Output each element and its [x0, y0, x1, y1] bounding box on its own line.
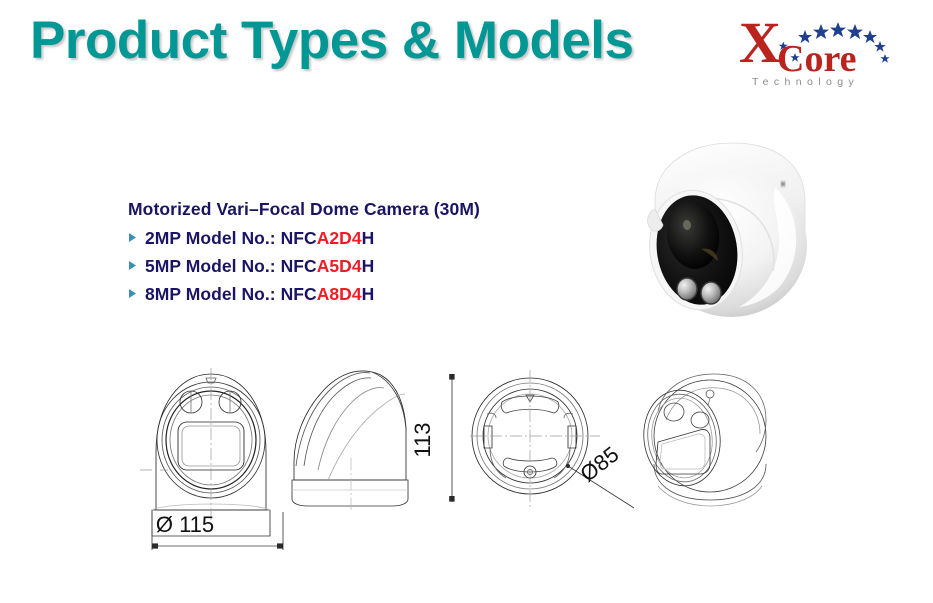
camera-product-photo: [625, 137, 840, 332]
side-base: [292, 480, 408, 506]
iso-lens-window: [656, 429, 710, 474]
slide-canvas: Product Types & Models X Core Technology: [0, 0, 933, 603]
camera-ir-led-right: [701, 282, 721, 304]
base-dimension-label: Ø85: [575, 441, 623, 486]
iso-face-bezel-outer: [638, 385, 727, 491]
iso-ir-led-right: [690, 411, 710, 429]
model-line: 2MP Model No.: NFCA2D4H: [145, 228, 374, 249]
xcore-logo: X Core Technology: [735, 8, 905, 88]
base-leader-dot: [566, 464, 570, 468]
front-dimension-label: Ø 115: [156, 512, 214, 537]
page-title: Product Types & Models: [30, 11, 634, 70]
side-bezel-edge-2: [304, 378, 371, 466]
model-prefix: 8MP Model No.: NFC: [145, 284, 317, 304]
triangle-right-icon: [128, 232, 145, 243]
model-line: 5MP Model No.: NFCA5D4H: [145, 256, 374, 277]
logo-tagline: Technology: [752, 76, 859, 88]
iso-base-bottom: [658, 486, 762, 506]
side-dimension-label: 113: [410, 422, 435, 457]
drawing-isometric-view: [628, 368, 793, 513]
model-suffix: H: [362, 256, 375, 276]
drawing-base-view: Ø85: [468, 362, 643, 522]
logo-letter-x: X: [739, 10, 781, 75]
side-bezel-edge-3: [318, 388, 384, 470]
camera-sensor-dot: [781, 182, 785, 186]
model-line: 8MP Model No.: NFCA8D4H: [145, 284, 374, 305]
model-code: A5D4: [317, 256, 362, 276]
side-seam: [328, 394, 405, 480]
triangle-right-icon: [128, 260, 145, 271]
model-code: A2D4: [317, 228, 362, 248]
model-suffix: H: [362, 228, 375, 248]
model-list-item: 8MP Model No.: NFCA8D4H: [128, 284, 598, 305]
model-suffix: H: [362, 284, 375, 304]
model-prefix: 5MP Model No.: NFC: [145, 256, 317, 276]
iso-sensor-dot: [706, 390, 714, 398]
model-list-item: 5MP Model No.: NFCA5D4H: [128, 256, 598, 277]
iso-sensor-stem: [708, 398, 710, 406]
iso-cap-seam: [666, 388, 760, 434]
camera-ir-led-left: [677, 278, 697, 300]
side-body-outline: [294, 371, 406, 480]
product-heading: Motorized Vari–Focal Dome Camera (30M): [128, 198, 598, 221]
model-code: A8D4: [317, 284, 362, 304]
side-bezel-edge-1: [296, 373, 370, 466]
logo-word-core: Core: [777, 38, 857, 80]
model-list-item: 2MP Model No.: NFCA2D4H: [128, 228, 598, 249]
model-prefix: 2MP Model No.: NFC: [145, 228, 317, 248]
triangle-right-icon: [128, 288, 145, 299]
drawing-side-view: 113: [288, 362, 463, 512]
product-spec-block: Motorized Vari–Focal Dome Camera (30M) 2…: [128, 198, 598, 305]
base-centerlines: [470, 370, 600, 508]
